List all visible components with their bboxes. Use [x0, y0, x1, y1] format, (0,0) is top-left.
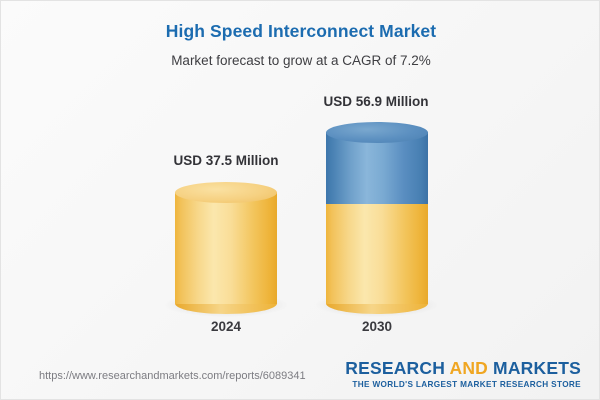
plot-area: USD 37.5 Million 2024 USD 56.9 Million 2… — [1, 1, 600, 346]
bar-2030-top-cap — [326, 122, 428, 143]
bar-2030-growth-bottom-cap — [326, 184, 428, 204]
chart-card: High Speed Interconnect Market Market fo… — [0, 0, 600, 400]
value-label-2024: USD 37.5 Million — [116, 153, 336, 168]
brand-logo: RESEARCH AND MARKETS THE WORLD'S LARGEST… — [345, 358, 581, 389]
brand-logo-tagline: THE WORLD'S LARGEST MARKET RESEARCH STOR… — [345, 380, 581, 389]
source-url[interactable]: https://www.researchandmarkets.com/repor… — [39, 370, 306, 382]
bar-2024-body — [175, 192, 277, 304]
brand-logo-research: RESEARCH — [345, 358, 449, 378]
value-label-2030: USD 56.9 Million — [266, 94, 486, 109]
bar-2030[interactable] — [326, 122, 428, 308]
bar-2030-segment-base — [326, 194, 428, 304]
brand-logo-markets: MARKETS — [488, 358, 581, 378]
category-label-2030: 2030 — [287, 319, 467, 334]
brand-logo-wordmark: RESEARCH AND MARKETS — [345, 358, 581, 379]
bar-2024-top-cap — [175, 182, 277, 203]
brand-logo-and: AND — [449, 358, 488, 378]
bar-2024[interactable] — [175, 182, 277, 308]
